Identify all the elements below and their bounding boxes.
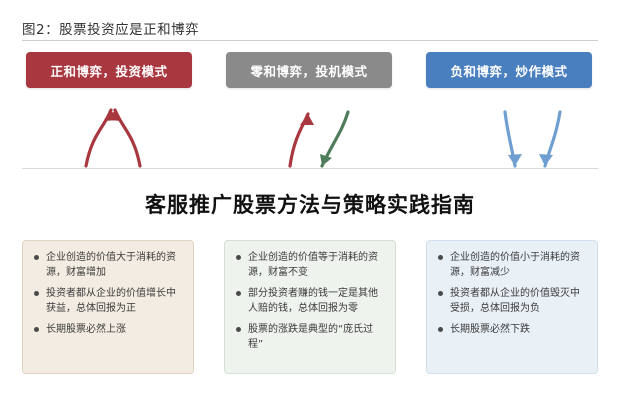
arrow-area bbox=[0, 92, 620, 172]
header-box-negative-sum[interactable]: 负和博弈，炒作模式 bbox=[426, 52, 592, 88]
card-positive-sum: 企业创造的价值大于消耗的资源，财富增加 投资者都从企业的价值增长中获益，总体回报… bbox=[22, 240, 194, 374]
header-box-positive-sum[interactable]: 正和博弈，投资模式 bbox=[26, 52, 192, 88]
list-item: 企业创造的价值大于消耗的资源，财富增加 bbox=[33, 251, 183, 280]
list-item: 长期股票必然上涨 bbox=[33, 323, 183, 338]
header-box-zero-sum[interactable]: 零和博弈，投机模式 bbox=[226, 52, 392, 88]
card-negative-sum: 企业创造的价值小于消耗的资源，财富减少 投资者都从企业的价值毁灭中受损，总体回报… bbox=[426, 240, 598, 374]
bullet-list: 企业创造的价值等于消耗的资源，财富不变 部分投资者赚的钱一定是其他人赔的钱，总体… bbox=[235, 251, 385, 352]
list-item: 股票的涨跌是典型的“庞氏过程” bbox=[235, 323, 385, 352]
section-divider bbox=[22, 168, 598, 169]
list-item: 投资者都从企业的价值毁灭中受损，总体回报为负 bbox=[437, 287, 587, 316]
bullet-list: 企业创造的价值小于消耗的资源，财富减少 投资者都从企业的价值毁灭中受损，总体回报… bbox=[437, 251, 587, 338]
caption-divider bbox=[22, 40, 598, 41]
diagram-canvas: 图2：股票投资应是正和博弈 正和博弈，投资模式 零和博弈，投机模式 负和博弈，炒… bbox=[0, 0, 620, 400]
figure-caption: 图2：股票投资应是正和博弈 bbox=[22, 18, 199, 38]
list-item: 部分投资者赚的钱一定是其他人赔的钱，总体回报为零 bbox=[235, 287, 385, 316]
list-item: 企业创造的价值小于消耗的资源，财富减少 bbox=[437, 251, 587, 280]
card-zero-sum: 企业创造的价值等于消耗的资源，财富不变 部分投资者赚的钱一定是其他人赔的钱，总体… bbox=[224, 240, 396, 374]
arrow-diagram bbox=[0, 92, 620, 172]
page-title: 客服推广股票方法与策略实践指南 bbox=[0, 178, 620, 230]
bullet-list: 企业创造的价值大于消耗的资源，财富增加 投资者都从企业的价值增长中获益，总体回报… bbox=[33, 251, 183, 338]
list-item: 企业创造的价值等于消耗的资源，财富不变 bbox=[235, 251, 385, 280]
list-item: 投资者都从企业的价值增长中获益，总体回报为正 bbox=[33, 287, 183, 316]
list-item: 长期股票必然下跌 bbox=[437, 323, 587, 338]
